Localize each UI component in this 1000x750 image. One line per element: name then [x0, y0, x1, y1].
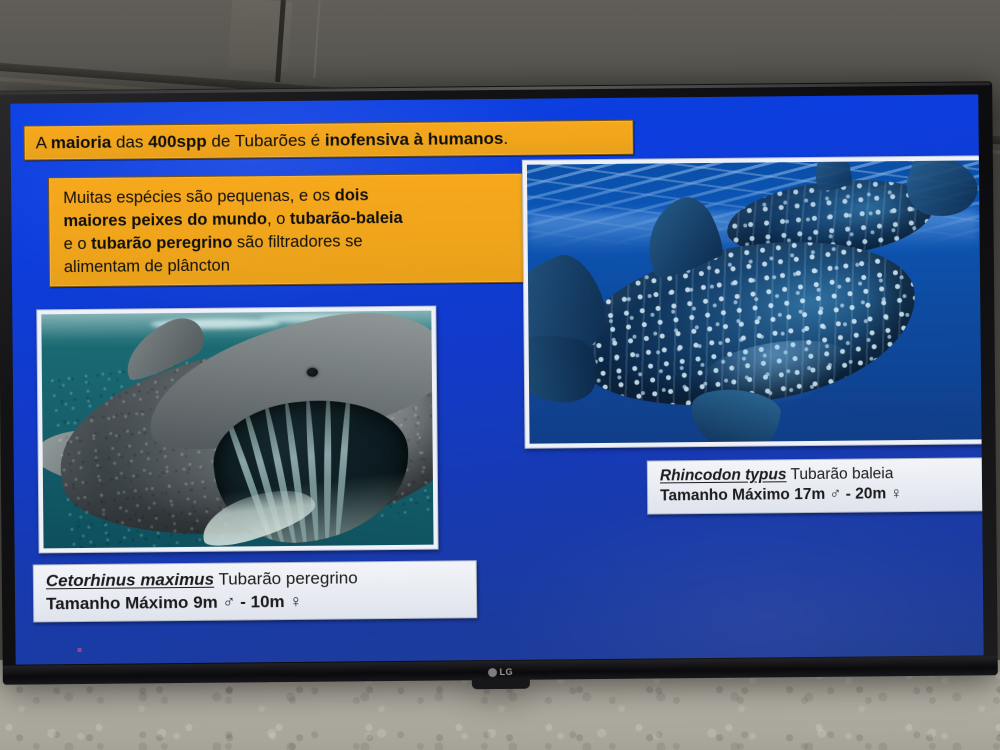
scientific-name: Cetorhinus maximus [46, 570, 214, 591]
lg-circle-icon [487, 668, 496, 677]
male-symbol-icon: ♂ [829, 486, 841, 503]
caption-size-line: Tamanho Máximo 17m ♂ - 20m ♀ [660, 483, 984, 506]
basking-shark-photo-inner [41, 311, 433, 549]
male-size-value: 17m [794, 486, 825, 503]
screen-dead-pixel [78, 648, 82, 652]
female-size-value: 20m [855, 485, 886, 502]
tv-bezel: A maioria das 400spp de Tubarões é inofe… [0, 81, 998, 685]
slide-title-text: A maioria das 400spp de Tubarões é inofe… [36, 128, 509, 153]
basking-shark-illustration [41, 311, 433, 549]
slide-title-box: A maioria das 400spp de Tubarões é inofe… [24, 120, 634, 161]
intro-line-4: alimentam de plâncton [64, 252, 516, 279]
whale-shark-photo-inner [527, 160, 982, 443]
female-size-value: 10m [251, 592, 285, 611]
basking-shark-photo [36, 306, 438, 554]
size-label: Tamanho Máximo [660, 486, 790, 504]
caption-basking-shark: Cetorhinus maximus Tubarão peregrino Tam… [33, 560, 478, 622]
female-symbol-icon: ♀ [890, 485, 902, 502]
common-name: Tubarão baleia [790, 465, 893, 483]
lg-brand-logo: LG [487, 667, 513, 677]
whale-shark-illustration [527, 160, 982, 443]
tv-screen[interactable]: A maioria das 400spp de Tubarões é inofe… [10, 94, 983, 664]
caption-size-line: Tamanho Máximo 9m ♂ - 10m ♀ [46, 588, 466, 615]
tv-ir-sensor-nub [471, 678, 529, 690]
common-name: Tubarão peregrino [218, 568, 357, 588]
television: A maioria das 400spp de Tubarões é inofe… [0, 81, 998, 685]
size-separator: - [240, 592, 246, 611]
size-separator: - [846, 485, 851, 502]
male-size-value: 9m [193, 592, 218, 611]
size-label: Tamanho Máximo [46, 593, 189, 613]
female-symbol-icon: ♀ [289, 591, 302, 611]
whale-shark-photo [522, 155, 984, 448]
caption-whale-shark: Rhincodon typus Tubarão baleia Tamanho M… [647, 457, 984, 514]
scientific-name: Rhincodon typus [660, 466, 787, 484]
lg-wordmark: LG [499, 667, 513, 677]
slide-intro-box: Muitas espécies são pequenas, e os dois … [48, 173, 529, 288]
ceiling-panel-seam-secondary [313, 0, 320, 78]
male-symbol-icon: ♂ [222, 591, 235, 611]
